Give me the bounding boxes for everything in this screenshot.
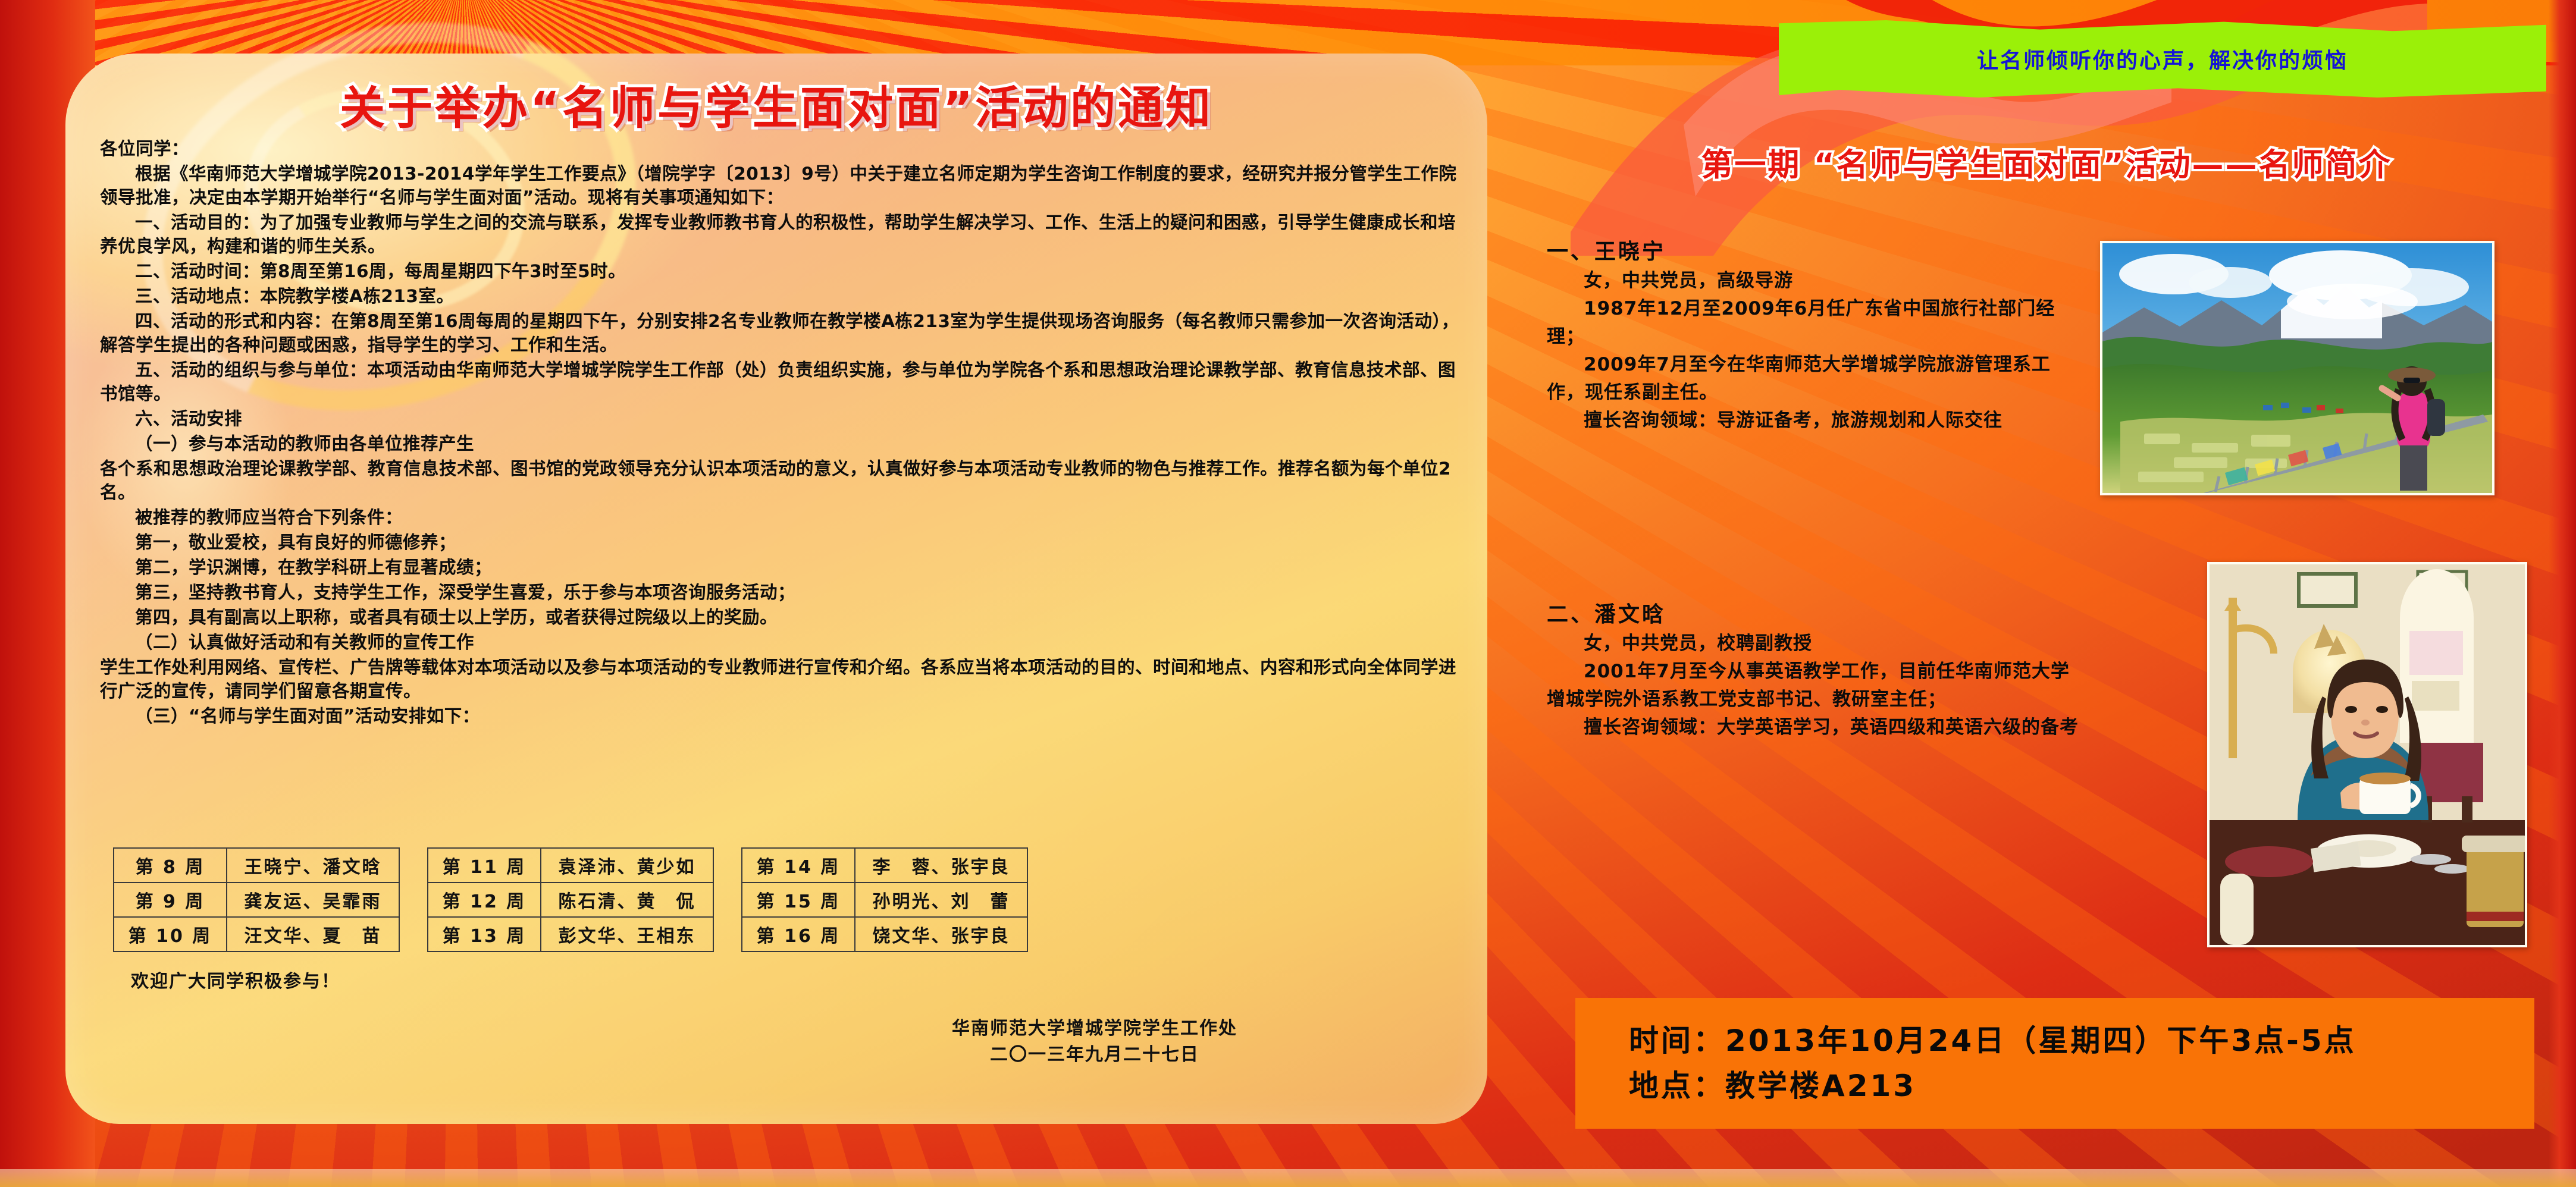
profile-line: 擅长咨询领域：大学英语学习，英语四级和英语六级的备考 (1547, 714, 2082, 742)
week-cell: 第 13 周 (428, 917, 541, 952)
table-row: 第 8 周 王晓宁、潘文晗 (114, 848, 399, 883)
signature-org: 华南师范大学增城学院学生工作处 (767, 1016, 1422, 1042)
teacher-profile-2: 二、潘文晗 女，中共党员，校聘副教授 2001年7月至今从事英语教学工作，目前任… (1547, 601, 2082, 742)
table-row: 第 9 周 龚友运、吴霏雨 (114, 883, 399, 917)
section-subtitle: 第一期 “名师与学生面对面”活动——名师简介 (1582, 140, 2511, 185)
profile-line: 女，中共党员，校聘副教授 (1547, 630, 2082, 658)
week-cell: 第 16 周 (742, 917, 855, 952)
table-row: 第 11 周 袁泽沛、黄少如 (428, 848, 713, 883)
teachers-cell: 汪文华、夏 苗 (227, 917, 399, 952)
notice-paragraph: 二、活动时间：第8周至第16周，每周星期四下午3时至5时。 (100, 259, 1462, 283)
notice-paragraph: 第四，具有副高以上职称，或者具有硕士以上学历，或者获得过院级以上的奖励。 (100, 605, 1462, 629)
schedule-table-3: 第 14 周 李 蓉、张宇良 第 15 周 孙明光、刘 蕾 第 16 周 饶文华… (741, 847, 1028, 952)
week-cell: 第 11 周 (428, 848, 541, 883)
week-cell: 第 8 周 (114, 848, 227, 883)
signature-block: 华南师范大学增城学院学生工作处 二〇一三年九月二十七日 (767, 1016, 1422, 1068)
week-cell: 第 12 周 (428, 883, 541, 917)
notice-paragraph: 三、活动地点：本院教学楼A栋213室。 (100, 284, 1462, 308)
mountain-landscape-photo (2100, 241, 2494, 495)
schedule-table-1: 第 8 周 王晓宁、潘文晗 第 9 周 龚友运、吴霏雨 第 10 周 汪文华、夏… (113, 847, 400, 952)
notice-paragraph: 一、活动目的：为了加强专业教师与学生之间的交流与联系，发挥专业教师教书育人的积极… (100, 211, 1462, 258)
profile-name: 王晓宁 (1594, 240, 1666, 264)
teachers-cell: 孙明光、刘 蕾 (855, 883, 1027, 917)
teachers-cell: 李 蓉、张宇良 (855, 848, 1027, 883)
profile-index: 二、 (1547, 602, 1594, 627)
cafe-portrait-photo (2207, 562, 2527, 947)
profile-line: 2009年7月至今在华南师范大学增城学院旅游管理系工作，现任系副主任。 (1547, 351, 2082, 407)
week-cell: 第 14 周 (742, 848, 855, 883)
profile-line: 女，中共党员，高级导游 (1547, 267, 2082, 295)
notice-paragraph: 各个系和思想政治理论课教学部、教育信息技术部、图书馆的党政领导充分认识本项活动的… (100, 457, 1462, 504)
welcome-text: 欢迎广大同学积极参与！ (131, 966, 340, 993)
schedule-table-2: 第 11 周 袁泽沛、黄少如 第 12 周 陈石清、黄 侃 第 13 周 彭文华… (427, 847, 714, 952)
notice-paragraph: 第一，敬业爱校，具有良好的师德修养； (100, 530, 1462, 554)
poster-canvas: 关于举办“名师与学生面对面”活动的通知 各位同学： 根据《华南师范大学增城学院2… (0, 0, 2576, 1187)
event-place: 地点：教学楼A213 (1629, 1063, 2534, 1109)
teacher-name-heading: 二、潘文晗 (1547, 601, 2082, 629)
green-slogan-text: 让名师倾听你的心声，解决你的烦恼 (1977, 43, 2348, 74)
green-slogan-banner: 让名师倾听你的心声，解决你的烦恼 (1779, 20, 2546, 98)
notice-panel: 关于举办“名师与学生面对面”活动的通知 各位同学： 根据《华南师范大学增城学院2… (65, 54, 1487, 1124)
notice-paragraph: 五、活动的组织与参与单位：本项活动由华南师范大学增城学院学生工作部（处）负责组织… (100, 358, 1462, 406)
profile-line: 2001年7月至今从事英语教学工作，目前任华南师范大学增城学院外语系教工党支部书… (1547, 658, 2082, 714)
event-info-box: 时间：2013年10月24日（星期四）下午3点-5点 地点：教学楼A213 (1575, 998, 2534, 1129)
notice-paragraph: 四、活动的形式和内容：在第8周至第16周每周的星期四下午，分别安排2名专业教师在… (100, 309, 1462, 357)
profile-line: 擅长咨询领域：导游证备考，旅游规划和人际交往 (1547, 407, 2082, 435)
teacher-profile-1: 一、王晓宁 女，中共党员，高级导游 1987年12月至2009年6月任广东省中国… (1547, 238, 2082, 435)
salutation: 各位同学： (100, 137, 1462, 161)
teachers-cell: 陈石清、黄 侃 (541, 883, 713, 917)
notice-paragraph: 被推荐的教师应当符合下列条件： (100, 505, 1462, 529)
table-row: 第 14 周 李 蓉、张宇良 (742, 848, 1027, 883)
teachers-cell: 彭文华、王相东 (541, 917, 713, 952)
notice-paragraph: 第二，学识渊博，在教学科研上有显著成绩； (100, 555, 1462, 579)
teachers-cell: 王晓宁、潘文晗 (227, 848, 399, 883)
table-row: 第 15 周 孙明光、刘 蕾 (742, 883, 1027, 917)
table-row: 第 13 周 彭文华、王相东 (428, 917, 713, 952)
notice-paragraph: （二）认真做好活动和有关教师的宣传工作 (100, 630, 1462, 654)
teachers-cell: 龚友运、吴霏雨 (227, 883, 399, 917)
profile-name: 潘文晗 (1594, 602, 1666, 627)
bottom-gold-band (0, 1169, 2576, 1187)
week-cell: 第 10 周 (114, 917, 227, 952)
notice-paragraph: 根据《华南师范大学增城学院2013-2014学年学生工作要点》（增院学字〔201… (100, 162, 1462, 209)
right-red-rail (2549, 0, 2576, 1187)
profile-line: 1987年12月至2009年6月任广东省中国旅行社部门经理； (1547, 295, 2082, 351)
notice-paragraph: 六、活动安排 (100, 407, 1462, 431)
notice-paragraph: 学生工作处利用网络、宣传栏、广告牌等载体对本项活动以及参与本项活动的专业教师进行… (100, 655, 1462, 703)
schedule-tables: 第 8 周 王晓宁、潘文晗 第 9 周 龚友运、吴霏雨 第 10 周 汪文华、夏… (113, 847, 1475, 952)
table-row: 第 12 周 陈石清、黄 侃 (428, 883, 713, 917)
notice-paragraph: （一）参与本活动的教师由各单位推荐产生 (100, 432, 1462, 456)
profile-index: 一、 (1547, 240, 1594, 264)
signature-date: 二〇一三年九月二十七日 (767, 1042, 1422, 1068)
notice-paragraph: 第三，坚持教书育人，支持学生工作，深受学生喜爱，乐于参与本项咨询服务活动； (100, 580, 1462, 604)
event-time: 时间：2013年10月24日（星期四）下午3点-5点 (1629, 1018, 2534, 1063)
table-row: 第 16 周 饶文华、张宇良 (742, 917, 1027, 952)
week-cell: 第 9 周 (114, 883, 227, 917)
teacher-name-heading: 一、王晓宁 (1547, 238, 2082, 266)
page-title: 关于举办“名师与学生面对面”活动的通知 (65, 71, 1487, 137)
teachers-cell: 袁泽沛、黄少如 (541, 848, 713, 883)
table-row: 第 10 周 汪文华、夏 苗 (114, 917, 399, 952)
notice-body: 各位同学： 根据《华南师范大学增城学院2013-2014学年学生工作要点》（增院… (100, 137, 1462, 729)
teachers-cell: 饶文华、张宇良 (855, 917, 1027, 952)
week-cell: 第 15 周 (742, 883, 855, 917)
notice-paragraph: （三）“名师与学生面对面”活动安排如下： (100, 704, 1462, 728)
